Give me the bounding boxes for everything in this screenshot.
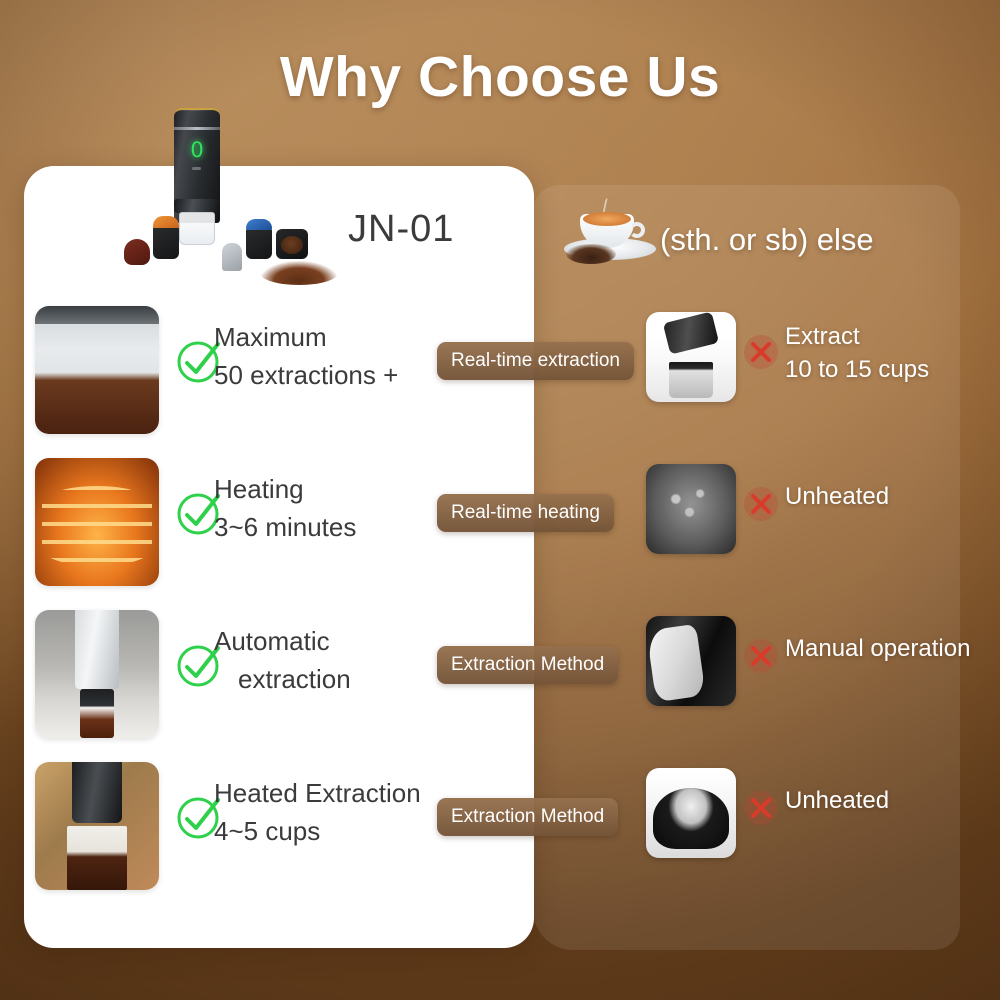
feature-line-2: extraction — [214, 660, 464, 698]
cup-handle — [629, 222, 645, 238]
cross-circle-icon — [742, 333, 780, 371]
product-model-name: JN-01 — [348, 208, 454, 251]
comparison-row: Maximum 50 extractions + Real-time extra… — [0, 300, 1000, 450]
product-feature-text: Heated Extraction 4~5 cups — [214, 774, 474, 850]
product-feature-text: Maximum 50 extractions + — [214, 318, 464, 394]
feature-line-2: 50 extractions + — [214, 356, 464, 394]
feature-line-2: 4~5 cups — [214, 812, 474, 850]
competitor-thumbnail — [646, 616, 736, 706]
feature-line-2: 10 to 15 cups — [785, 356, 929, 383]
comparison-row: Automatic extraction Extraction Method M… — [0, 604, 1000, 754]
capsule-silver-icon — [222, 243, 242, 271]
product-thumbnail — [35, 458, 159, 586]
comparison-category-pill: Real-time heating — [437, 494, 614, 532]
crema-top — [583, 212, 631, 226]
coffee-cup-icon — [560, 200, 664, 266]
competitor-header-label: (sth. or sb) else — [660, 222, 874, 258]
competitor-feature-text: Unheated — [785, 784, 995, 817]
product-thumbnail — [35, 762, 159, 890]
page-title: Why Choose Us — [0, 44, 1000, 110]
competitor-thumbnail — [646, 312, 736, 402]
coffee-beans-pile — [566, 244, 616, 264]
feature-line-1: Unheated — [785, 787, 889, 814]
product-thumbnail — [35, 306, 159, 434]
machine-cup — [179, 212, 215, 245]
feature-line-1: Automatic — [214, 626, 330, 656]
machine-display-value: 0 — [188, 139, 206, 161]
comparison-category-pill: Real-time extraction — [437, 342, 634, 380]
product-feature-text: Heating 3~6 minutes — [214, 470, 464, 546]
capsule-blue-icon — [246, 227, 272, 259]
capsule-open-icon — [276, 229, 308, 259]
competitor-feature-text: Manual operation — [785, 632, 1000, 665]
competitor-feature-text: Unheated — [785, 480, 995, 513]
product-feature-text: Automatic extraction — [214, 622, 464, 698]
machine-indicator-light — [192, 167, 201, 170]
competitor-thumbnail — [646, 464, 736, 554]
comparison-category-pill: Extraction Method — [437, 646, 618, 684]
machine-collar — [174, 199, 220, 213]
comparison-row: Heated Extraction 4~5 cups Extraction Me… — [0, 756, 1000, 906]
product-hero-image: 0 — [110, 103, 400, 288]
competitor-feature-text: Extract 10 to 15 cups — [785, 320, 995, 386]
feature-line-1: Heating — [214, 474, 304, 504]
capsule-red-icon — [124, 239, 150, 265]
feature-line-1: Heated Extraction — [214, 778, 421, 808]
comparison-category-pill: Extraction Method — [437, 798, 618, 836]
feature-line-1: Manual operation — [785, 635, 970, 662]
competitor-thumbnail — [646, 768, 736, 858]
feature-line-2: 3~6 minutes — [214, 508, 464, 546]
cross-circle-icon — [742, 485, 780, 523]
machine-ring — [174, 127, 220, 130]
comparison-row: Heating 3~6 minutes Real-time heating Un… — [0, 452, 1000, 602]
feature-line-1: Unheated — [785, 483, 889, 510]
feature-line-1: Extract — [785, 323, 860, 350]
cross-circle-icon — [742, 789, 780, 827]
coffee-grounds-pile — [260, 261, 338, 285]
feature-line-1: Maximum — [214, 322, 327, 352]
capsule-orange-icon — [153, 225, 179, 259]
cross-circle-icon — [742, 637, 780, 675]
product-thumbnail — [35, 610, 159, 738]
